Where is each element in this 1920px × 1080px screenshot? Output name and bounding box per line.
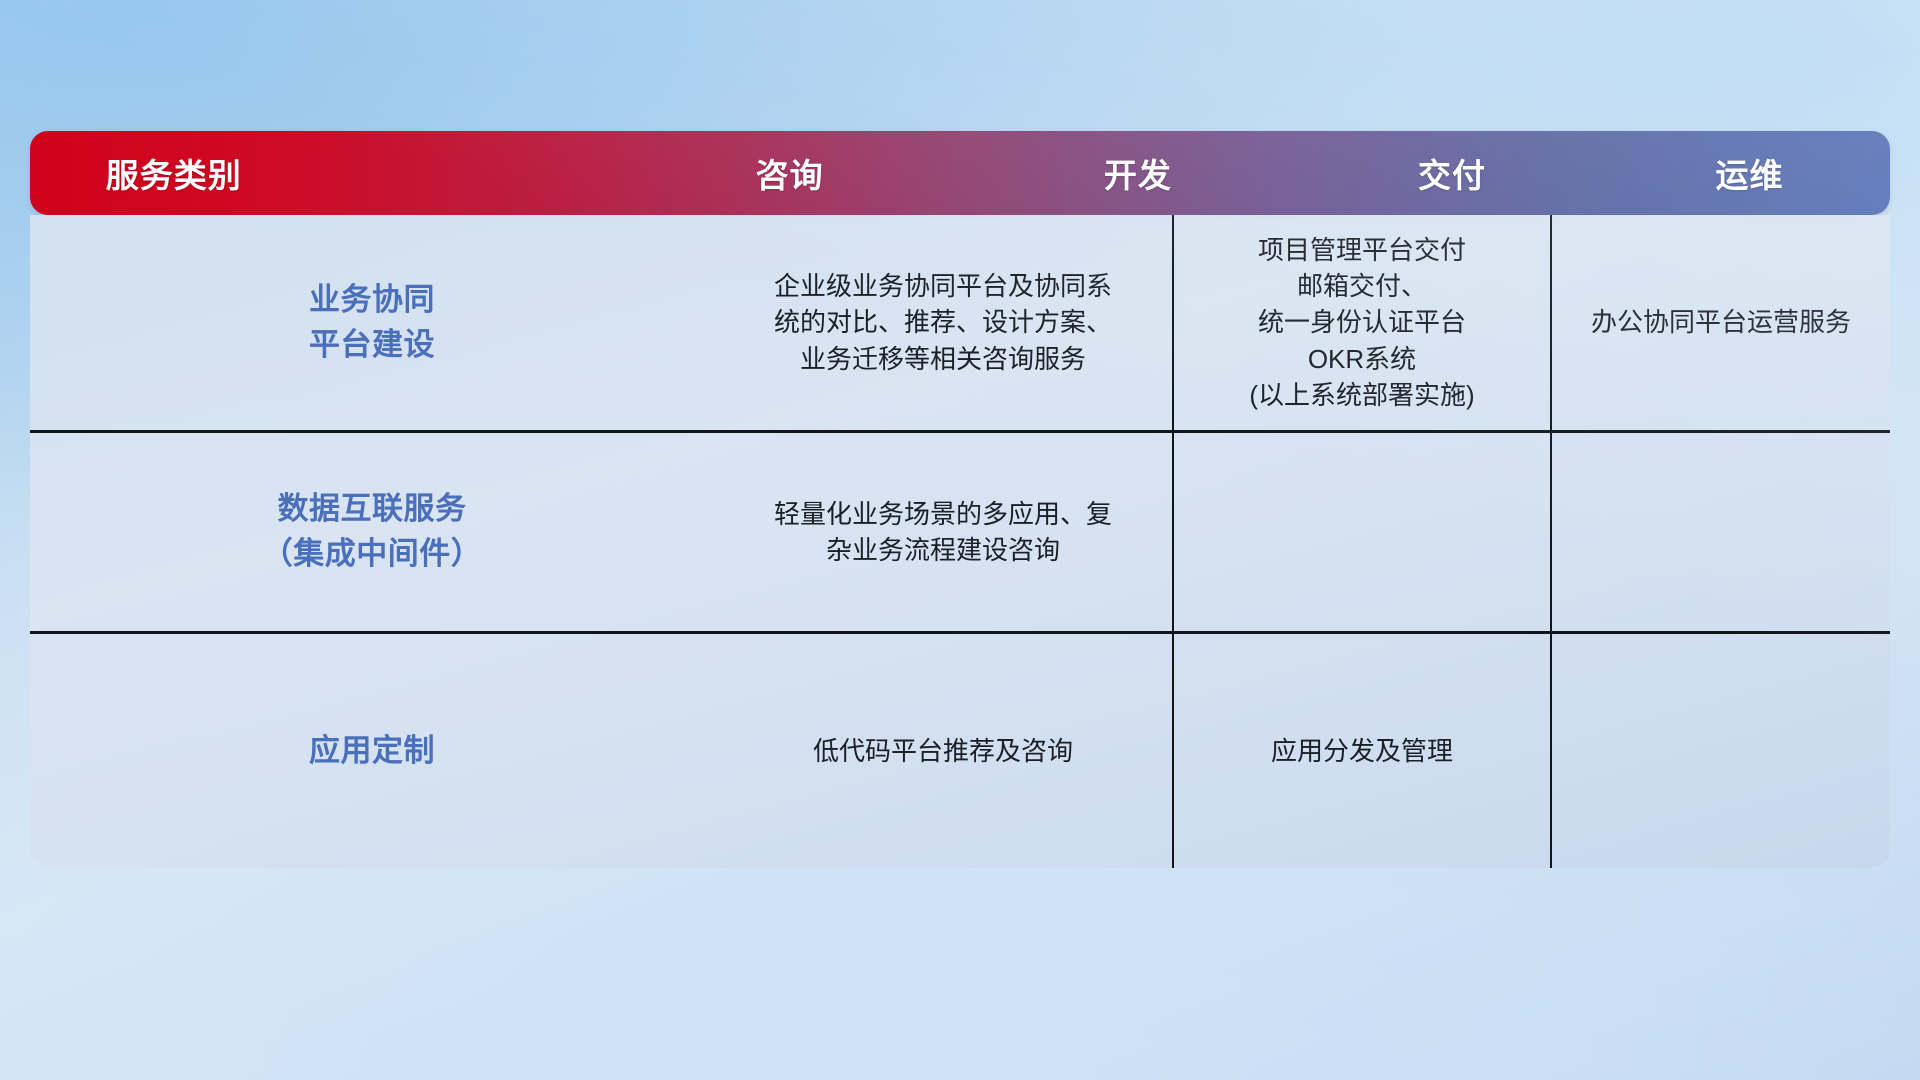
cell-delivery — [1174, 433, 1552, 631]
cell-operations — [1552, 634, 1890, 868]
cell-delivery: 项目管理平台交付 邮箱交付、 统一身份认证平台 OKR系统 (以上系统部署实施) — [1174, 215, 1552, 430]
cell-service-category: 业务协同 平台建设 — [30, 215, 714, 430]
cell-consulting: 轻量化业务场景的多应用、复 杂业务流程建设咨询 — [714, 433, 1174, 631]
column-header-service-category: 服务类别 — [30, 131, 318, 215]
cell-operations — [1552, 433, 1890, 631]
cell-delivery: 应用分发及管理 — [1174, 634, 1552, 868]
column-header-delivery: 交付 — [1295, 131, 1609, 215]
column-header-development: 开发 — [981, 131, 1295, 215]
cell-consulting: 企业级业务协同平台及协同系 统的对比、推荐、设计方案、 业务迁移等相关咨询服务 — [714, 215, 1174, 430]
cell-service-category: 数据互联服务 （集成中间件） — [30, 433, 714, 631]
column-header-spacer — [318, 131, 599, 215]
column-header-operations: 运维 — [1609, 131, 1890, 215]
table-row: 数据互联服务 （集成中间件） 轻量化业务场景的多应用、复 杂业务流程建设咨询 — [30, 433, 1890, 634]
cell-service-category: 应用定制 — [30, 634, 714, 868]
table-header-row: 服务类别 咨询 开发 交付 运维 — [30, 131, 1890, 215]
column-header-consulting: 咨询 — [598, 131, 980, 215]
service-matrix-table: 服务类别 咨询 开发 交付 运维 业务协同 平台建设 企业级业务协同平台及协同系… — [30, 131, 1890, 868]
table-row: 应用定制 低代码平台推荐及咨询 应用分发及管理 — [30, 634, 1890, 868]
cell-consulting: 低代码平台推荐及咨询 — [714, 634, 1174, 868]
slide-canvas: 服务类别 咨询 开发 交付 运维 业务协同 平台建设 企业级业务协同平台及协同系… — [0, 0, 1920, 1080]
cell-operations: 办公协同平台运营服务 — [1552, 215, 1890, 430]
table-row: 业务协同 平台建设 企业级业务协同平台及协同系 统的对比、推荐、设计方案、 业务… — [30, 215, 1890, 433]
table-body: 业务协同 平台建设 企业级业务协同平台及协同系 统的对比、推荐、设计方案、 业务… — [30, 215, 1890, 868]
